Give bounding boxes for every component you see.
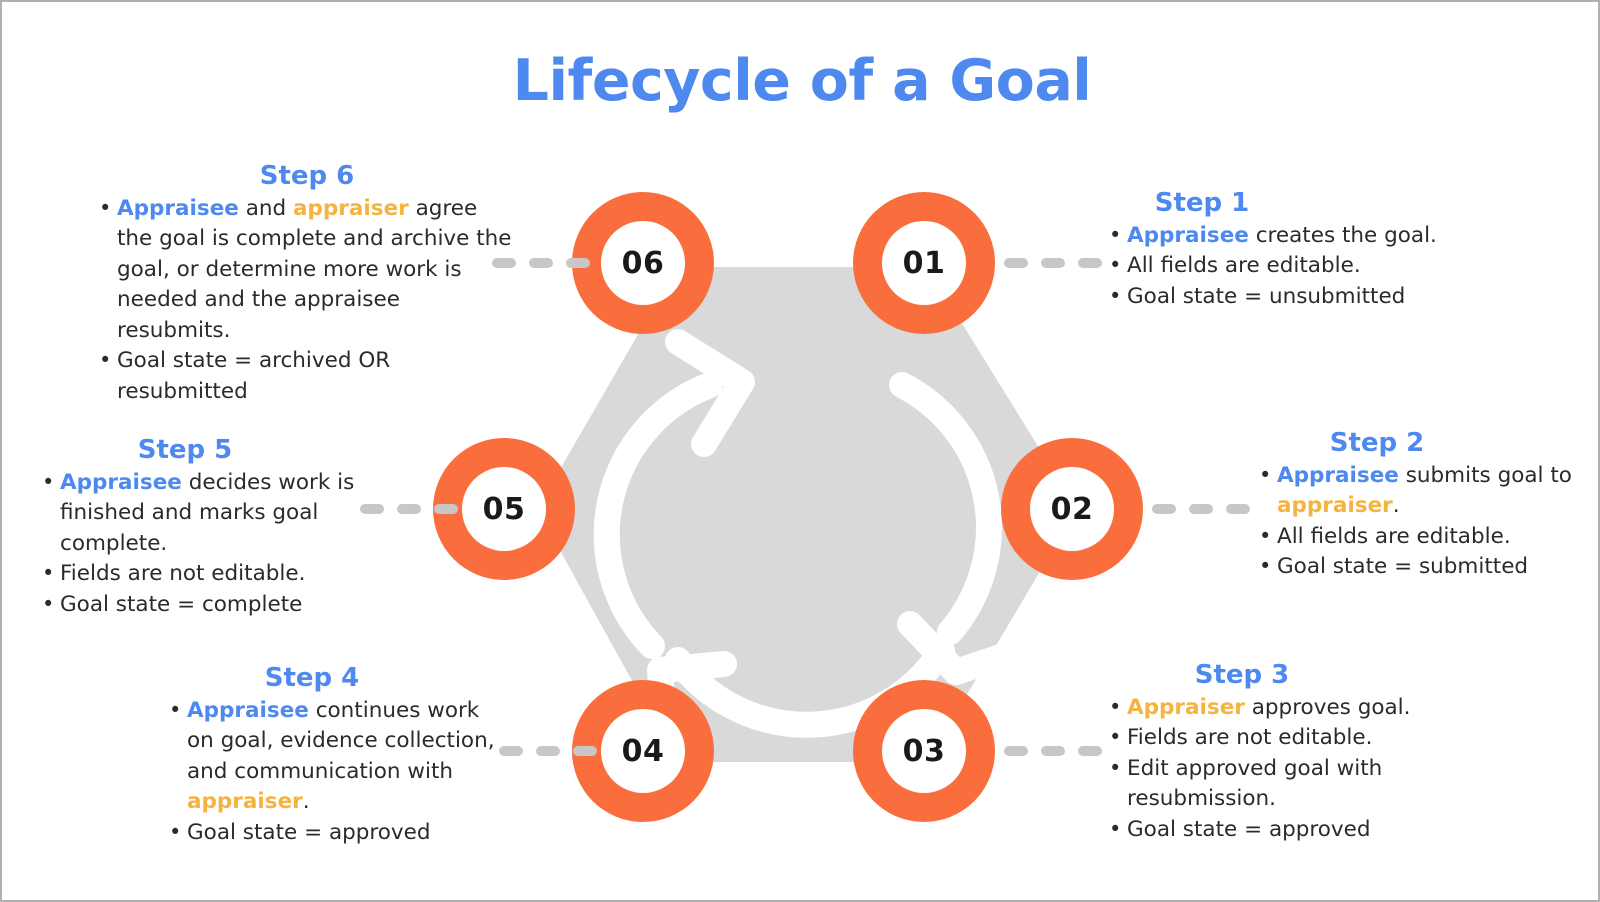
bullet-text: . (303, 789, 310, 814)
bullet-item: All fields are editable. (1257, 522, 1587, 553)
step-5-title: Step 5 (40, 435, 330, 466)
step-2-title: Step 2 (1257, 428, 1497, 459)
step-1-bullets: Appraisee creates the goal.All fields ar… (1107, 221, 1437, 313)
connector-dashes-02 (1152, 504, 1250, 514)
role-appraisee: Appraisee (60, 470, 182, 495)
bullet-text: submits goal to (1399, 463, 1572, 488)
step-6-bullets: Appraisee and appraiser agree the goal i… (97, 194, 517, 408)
dash-segment (1078, 746, 1102, 756)
step-2-bullets: Appraisee submits goal to appraiser.All … (1257, 461, 1587, 583)
step-block-3: Step 3 Appraiser approves goal.Fields ar… (1107, 660, 1447, 845)
dash-segment (1152, 504, 1176, 514)
bullet-item: Fields are not editable. (40, 559, 370, 590)
bullet-item: Goal state = archived OR resubmitted (97, 346, 517, 407)
bullet-item: Goal state = approved (1107, 815, 1447, 846)
bullet-text: Goal state = unsubmitted (1127, 284, 1405, 309)
bullet-text: Goal state = submitted (1277, 554, 1528, 579)
step-block-6: Step 6 Appraisee and appraiser agree the… (97, 161, 517, 407)
dash-segment (573, 746, 597, 756)
dash-segment (1041, 746, 1065, 756)
step-block-5: Step 5 Appraisee decides work is finishe… (40, 435, 370, 620)
connector-dashes-04 (499, 746, 597, 756)
bullet-item: Goal state = submitted (1257, 552, 1587, 583)
connector-dashes-05 (360, 504, 458, 514)
bullet-item: All fields are editable. (1107, 251, 1437, 282)
role-appraisee: Appraisee (1277, 463, 1399, 488)
dash-segment (1078, 258, 1102, 268)
step-badge-01-label: 01 (882, 221, 966, 305)
bullet-item: Appraisee continues work on goal, eviden… (167, 696, 507, 818)
bullet-text: Goal state = approved (187, 820, 431, 845)
step-badge-06-label: 06 (601, 221, 685, 305)
step-badge-02-label: 02 (1030, 467, 1114, 551)
bullet-text: All fields are editable. (1277, 524, 1511, 549)
bullet-text: All fields are editable. (1127, 253, 1361, 278)
role-appraiser: appraiser (187, 789, 303, 814)
bullet-item: Edit approved goal with resubmission. (1107, 754, 1447, 815)
bullet-item: Appraisee and appraiser agree the goal i… (97, 194, 517, 347)
step-block-4: Step 4 Appraisee continues work on goal,… (167, 663, 507, 848)
step-badge-05-label: 05 (462, 467, 546, 551)
dash-segment (1004, 258, 1028, 268)
connector-dashes-01 (1004, 258, 1102, 268)
dash-segment (1004, 746, 1028, 756)
step-4-bullets: Appraisee continues work on goal, eviden… (167, 696, 507, 849)
bullet-item: Goal state = approved (167, 818, 507, 849)
dash-segment (1226, 504, 1250, 514)
dash-segment (536, 746, 560, 756)
bullet-text: Fields are not editable. (1127, 725, 1372, 750)
step-badge-04-label: 04 (601, 709, 685, 793)
bullet-text: approves goal. (1245, 695, 1411, 720)
dash-segment (529, 258, 553, 268)
role-appraiser: appraiser (293, 196, 409, 221)
dash-segment (397, 504, 421, 514)
role-appraiser: Appraiser (1127, 695, 1245, 720)
step-block-1: Step 1 Appraisee creates the goal.All fi… (1107, 188, 1437, 312)
step-badge-02[interactable]: 02 (1001, 438, 1143, 580)
bullet-item: Fields are not editable. (1107, 723, 1447, 754)
role-appraiser: appraiser (1277, 493, 1393, 518)
step-block-2: Step 2 Appraisee submits goal to apprais… (1257, 428, 1587, 583)
step-badge-06[interactable]: 06 (572, 192, 714, 334)
bullet-text: and (239, 196, 293, 221)
dash-segment (434, 504, 458, 514)
step-3-bullets: Appraiser approves goal.Fields are not e… (1107, 693, 1447, 846)
bullet-text: Edit approved goal with resubmission. (1127, 756, 1382, 812)
bullet-text: Goal state = approved (1127, 817, 1371, 842)
bullet-item: Appraisee creates the goal. (1107, 221, 1437, 252)
step-badge-03[interactable]: 03 (853, 680, 995, 822)
role-appraisee: Appraisee (117, 196, 239, 221)
bullet-item: Appraisee submits goal to appraiser. (1257, 461, 1587, 522)
bullet-item: Appraisee decides work is finished and m… (40, 468, 370, 560)
dash-segment (1041, 258, 1065, 268)
bullet-item: Goal state = complete (40, 590, 370, 621)
bullet-text: Fields are not editable. (60, 561, 305, 586)
step-6-title: Step 6 (97, 161, 517, 192)
bullet-text: Goal state = archived OR resubmitted (117, 348, 390, 404)
step-badge-03-label: 03 (882, 709, 966, 793)
diagram-canvas: Lifecycle of a Goal 01 02 03 04 05 (0, 0, 1600, 902)
bullet-item: Goal state = unsubmitted (1107, 282, 1437, 313)
step-1-title: Step 1 (1107, 188, 1297, 219)
bullet-item: Appraiser approves goal. (1107, 693, 1447, 724)
role-appraisee: Appraisee (1127, 223, 1249, 248)
dash-segment (1189, 504, 1213, 514)
bullet-text: . (1393, 493, 1400, 518)
step-3-title: Step 3 (1107, 660, 1377, 691)
step-badge-01[interactable]: 01 (853, 192, 995, 334)
dash-segment (566, 258, 590, 268)
step-5-bullets: Appraisee decides work is finished and m… (40, 468, 370, 621)
bullet-text: creates the goal. (1249, 223, 1437, 248)
bullet-text: Goal state = complete (60, 592, 302, 617)
page-title: Lifecycle of a Goal (2, 48, 1600, 114)
step-4-title: Step 4 (167, 663, 457, 694)
role-appraisee: Appraisee (187, 698, 309, 723)
connector-dashes-03 (1004, 746, 1102, 756)
